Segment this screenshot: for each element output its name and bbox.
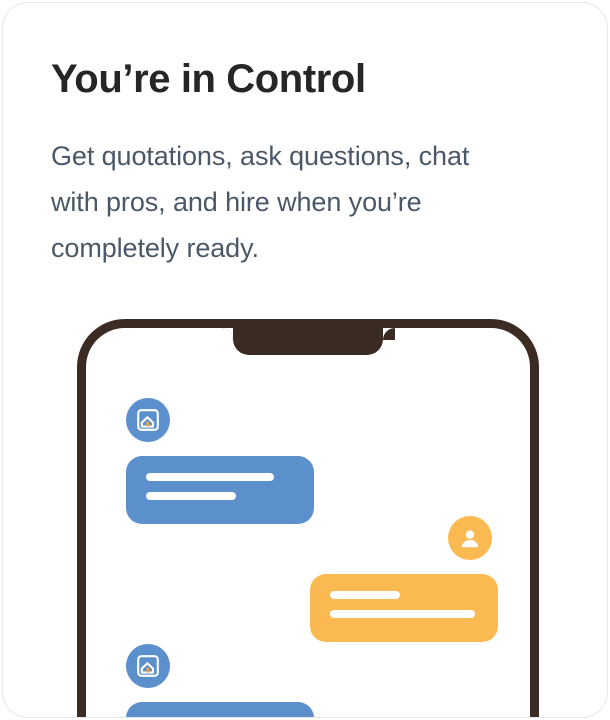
card-copy: You’re in Control Get quotations, ask qu… (51, 55, 551, 271)
phone-frame (77, 319, 539, 718)
page-title: You’re in Control (51, 55, 551, 103)
card-description: Get quotations, ask questions, chat with… (51, 103, 521, 271)
chat-bubble (310, 574, 498, 642)
feature-card: You’re in Control Get quotations, ask qu… (2, 2, 608, 718)
phone-illustration (3, 319, 608, 718)
text-placeholder-line (330, 610, 475, 618)
avatar (126, 398, 170, 442)
text-placeholder-line (330, 591, 400, 599)
chat-bubble (126, 702, 314, 718)
home-logo-icon (135, 653, 161, 679)
person-icon (457, 525, 483, 551)
home-logo-icon (135, 407, 161, 433)
text-placeholder-line (146, 473, 274, 481)
phone-screen (86, 328, 530, 718)
avatar (448, 516, 492, 560)
chat-bubble (126, 456, 314, 524)
avatar (126, 644, 170, 688)
text-placeholder-line (146, 492, 236, 500)
